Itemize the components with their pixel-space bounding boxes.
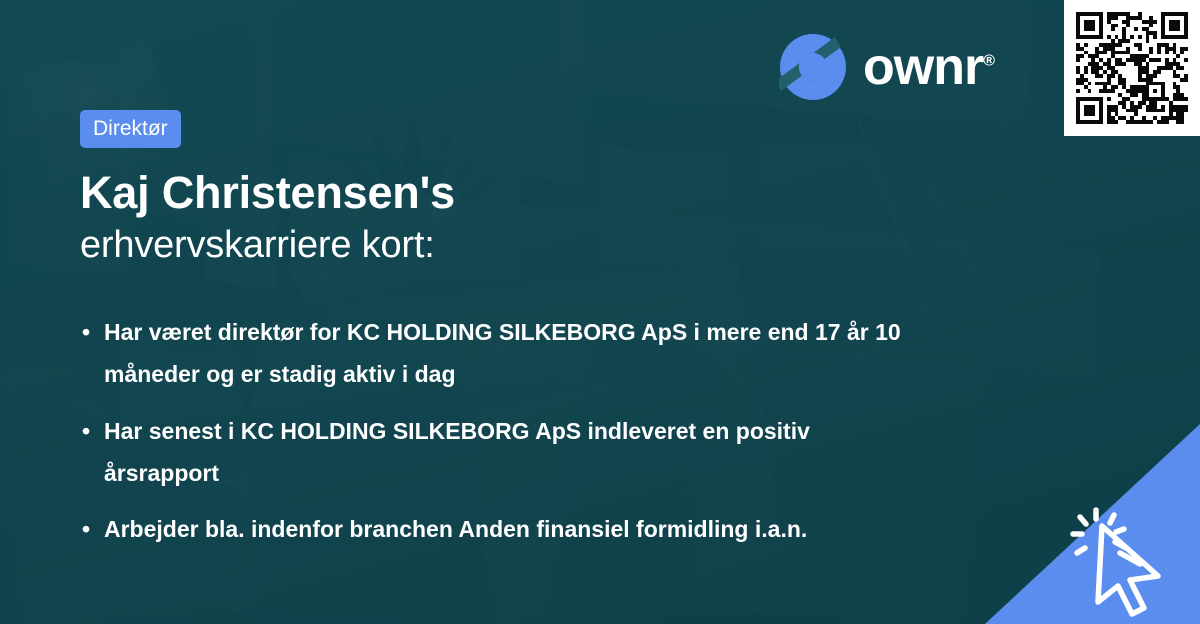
list-item-text: Har senest i KC HOLDING SILKEBORG ApS in… — [104, 411, 914, 495]
career-facts-list: •Har været direktør for KC HOLDING SILKE… — [82, 312, 982, 566]
heading-block: Direktør Kaj Christensen's erhvervskarri… — [80, 110, 980, 269]
bullet-marker-icon: • — [82, 312, 104, 396]
page-title: Kaj Christensen's — [80, 167, 980, 219]
bullet-marker-icon: • — [82, 411, 104, 495]
qr-code-matrix — [1076, 12, 1188, 124]
role-badge: Direktør — [80, 110, 181, 148]
qr-code[interactable] — [1064, 0, 1200, 136]
list-item: •Arbejder bla. indenfor branchen Anden f… — [82, 509, 982, 551]
list-item-text: Har været direktør for KC HOLDING SILKEB… — [104, 312, 914, 396]
business-career-card: ownr® Direktør Kaj Christensen's erhverv… — [0, 0, 1200, 624]
wordmark-text: ownr — [863, 38, 983, 96]
ownr-wordmark: ownr® — [863, 41, 994, 93]
ownr-logo[interactable]: ownr® — [779, 33, 994, 101]
list-item: •Har senest i KC HOLDING SILKEBORG ApS i… — [82, 411, 982, 495]
click-cursor-icon — [1060, 498, 1190, 618]
bullet-marker-icon: • — [82, 509, 104, 551]
page-subtitle: erhvervskarriere kort: — [80, 223, 980, 269]
list-item: •Har været direktør for KC HOLDING SILKE… — [82, 312, 982, 396]
registered-trademark-symbol: ® — [983, 53, 994, 70]
ownr-circle-logo — [779, 33, 847, 101]
list-item-text: Arbejder bla. indenfor branchen Anden fi… — [104, 509, 914, 551]
